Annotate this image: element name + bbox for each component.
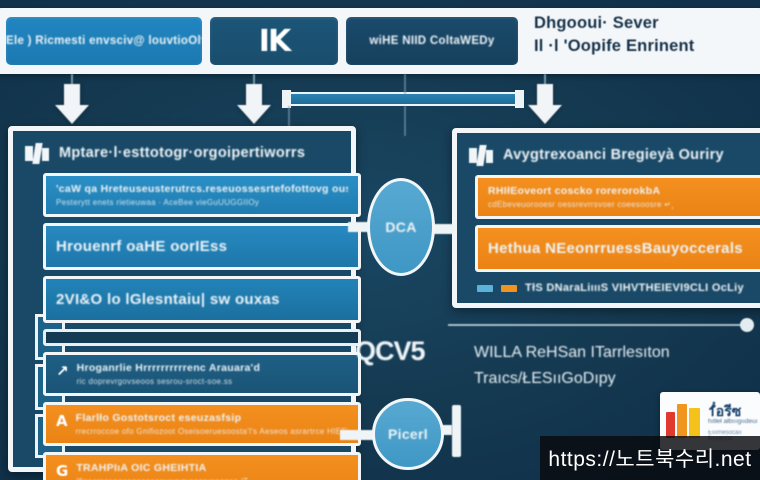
table-row-divider bbox=[43, 329, 361, 346]
tab-1[interactable]: IK bbox=[210, 17, 338, 65]
legend-swatch-blue bbox=[477, 285, 493, 292]
row-line2: rrecrroccoe ofo Gnifiozoot Oseisoeruesoo… bbox=[76, 427, 348, 436]
right-panel-rows: RHIłEoveort coscko rorerorokbA cdEbeveuo… bbox=[457, 175, 760, 278]
arrow-down-icon-center bbox=[237, 84, 271, 124]
row-line1: Hroganrlie Hrrrrrrrrrrenc Arauara'd bbox=[77, 362, 348, 374]
table-row[interactable]: RHIłEoveort coscko rorerorokbA cdEbeveuo… bbox=[475, 175, 760, 219]
left-panel-header: Mptare·l·esttotogr·orgoipertiworrs bbox=[13, 131, 351, 175]
horizontal-connector-bar bbox=[288, 92, 520, 106]
row-line1: TRAHPIıA OIC GHEIHTIA bbox=[76, 462, 348, 474]
left-panel-title: Mptare·l·esttotogr·orgoipertiworrs bbox=[59, 145, 305, 161]
table-row[interactable]: A Flarlło Gostotsroct eseuzasfsiр rrecrr… bbox=[43, 402, 361, 446]
bar-chart-logo-icon bbox=[666, 400, 706, 438]
arrow-down-icon-right bbox=[528, 84, 562, 124]
caption: WILLA ReHSan ITarrlesıton Traıcs/ŁESııGo… bbox=[474, 340, 754, 392]
tab-2[interactable]: wiHE NIID ColtaWEDy bbox=[346, 17, 518, 65]
watermark-text: https://노트북수리.net bbox=[548, 443, 751, 473]
connector-drop-3 bbox=[404, 74, 406, 94]
legend-swatch-orange bbox=[501, 285, 517, 292]
watermark: https://노트북수리.net bbox=[540, 436, 760, 480]
table-row[interactable]: Hrouenrf oaHE oorIEss bbox=[43, 223, 361, 270]
row-line1: RHIłEoveort coscko rorerorokbA bbox=[488, 185, 760, 197]
row-line1: Hrouenrf oaHE oorIEss bbox=[56, 238, 348, 255]
legend: TłS DNaraLiıııS VIHVTHEIEVI9CLI OcLiу bbox=[477, 282, 744, 294]
gauge-icon: G bbox=[56, 462, 68, 480]
connector-cap-right bbox=[515, 90, 524, 108]
connector-drop-2 bbox=[404, 106, 406, 136]
page-title: Dhgooui· Sever Il ·l 'Oopife Enrinent bbox=[534, 12, 760, 58]
timeline-rule bbox=[448, 324, 748, 326]
node-picerl-label: Picerl bbox=[388, 426, 428, 442]
right-panel-header: Avygtrexoanci Bregieyà Ouriry bbox=[457, 133, 760, 177]
tab-2-label: wiHE NIID ColtaWEDy bbox=[369, 35, 494, 47]
brand-sub: hıtłeł ałbıııgııdeuı bbox=[708, 418, 758, 425]
arrow-down-icon-left bbox=[55, 84, 89, 124]
qcvs-mark: QCV5 bbox=[355, 336, 425, 367]
table-row[interactable]: ↗ Hroganrlie Hrrrrrrrrrrenc Arauara'd ri… bbox=[43, 352, 361, 396]
trend-up-icon: ↗ bbox=[56, 362, 69, 380]
caption-line1: WILLA ReHSan ITarrlesıton bbox=[474, 340, 754, 366]
tab-0[interactable]: Ele ) Ricmesti envsciv@ louvtioOlv bbox=[6, 17, 202, 65]
alert-icon: A bbox=[56, 412, 68, 430]
left-panel-rows: 'caW qa Hreteuseusterutrcs.reseuossesrte… bbox=[13, 173, 351, 480]
caption-line2: Traıcs/ŁESııGoDıрy bbox=[474, 366, 754, 392]
page-title-line1: Dhgooui· Sever bbox=[534, 12, 760, 35]
table-row[interactable]: 'caW qa Hreteuseusterutrcs.reseuossesrte… bbox=[43, 173, 361, 217]
page-title-line2: Il ·l 'Oopife Enrinent bbox=[534, 35, 760, 58]
chart-bars-icon bbox=[25, 143, 49, 164]
table-row[interactable]: G TRAHPIıA OIC GHEIHTIA Ifiescrsosoocooo… bbox=[43, 452, 361, 480]
node-connector-right bbox=[432, 224, 456, 234]
tab-0-label: Ele ) Ricmesti envsciv@ louvtioOlv bbox=[6, 35, 202, 47]
chart-bars-icon bbox=[469, 145, 493, 166]
node2-connector-left bbox=[340, 430, 376, 440]
row-line1: 'caW qa Hreteuseusterutrcs.reseuossesrte… bbox=[56, 183, 348, 195]
node-dca[interactable]: DCA bbox=[367, 178, 435, 276]
row-line1: Hethua NEeonrruessBauyoccerals bbox=[488, 240, 760, 257]
connector-cap-left bbox=[282, 90, 291, 108]
row-line1: Flarlło Gostotsroct eseuzasfsiр bbox=[76, 412, 348, 424]
table-row[interactable]: 2VI&O lo lGlesntaiu| sw ouxas bbox=[43, 276, 361, 323]
row-line2: ric doprevrgovseoos sesrou-sroct-soe.ss bbox=[77, 377, 348, 386]
row-line2: Pesterytt enets rietieuwaa · AceBee vieG… bbox=[56, 198, 348, 207]
right-panel: Avygtrexoanci Bregieyà Ouriry RHIłEoveor… bbox=[452, 128, 760, 308]
row-line1: 2VI&O lo lGlesntaiu| sw ouxas bbox=[56, 291, 348, 308]
left-panel: Mptare·l·esttotogr·orgoipertiworrs 'caW … bbox=[8, 126, 356, 472]
tab-1-logo-icon: IK bbox=[259, 24, 289, 59]
table-row[interactable]: Hethua NEeonrruessBauyoccerals bbox=[475, 225, 760, 272]
right-panel-title: Avygtrexoanci Bregieyà Ouriry bbox=[503, 147, 724, 163]
node-picerl[interactable]: Picerl bbox=[372, 398, 444, 470]
legend-label: TłS DNaraLiıııS VIHVTHEIEVI9CLI OcLiу bbox=[525, 282, 744, 294]
node-dca-label: DCA bbox=[385, 219, 416, 235]
node2-end-cap bbox=[452, 405, 461, 457]
row-line2: cdEbeveuorooesr oessrevrrsvoer coeesoosr… bbox=[488, 200, 760, 209]
diagram-canvas: Ele ) Ricmesti envsciv@ louvtioOlv IK wi… bbox=[0, 0, 760, 480]
timeline-endpoint-dot bbox=[740, 318, 754, 332]
